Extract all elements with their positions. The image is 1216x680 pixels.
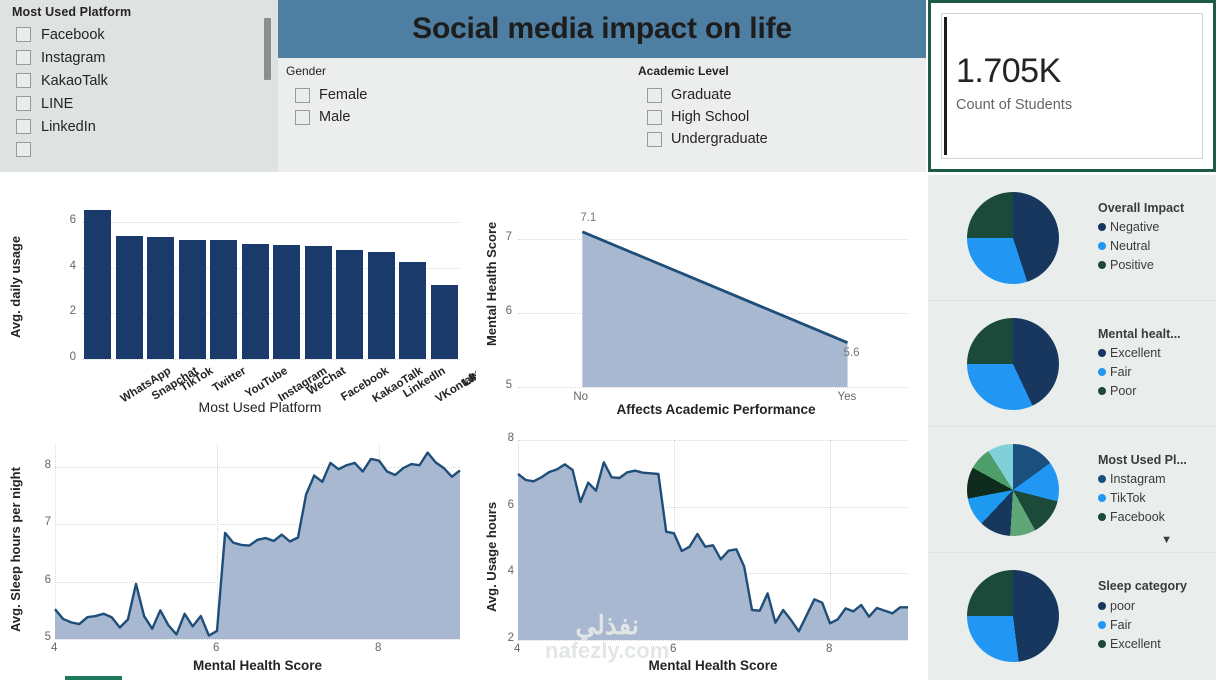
legend-label: Negative	[1110, 220, 1159, 234]
most-used-platform-pie-visual[interactable]: Most Used Pl... Instagram TikTok Faceboo…	[928, 427, 1216, 553]
data-label: 5.6	[844, 347, 860, 359]
kpi-accent-bar	[944, 17, 947, 155]
x-tick-label: 8	[375, 642, 381, 654]
slicer-item-label: LinkedIn	[41, 119, 96, 135]
slicer-item-instagram[interactable]: Instagram	[0, 46, 278, 69]
legend-item[interactable]: Instagram	[1098, 470, 1212, 489]
legend-swatch	[1098, 261, 1106, 269]
slicer-item-label: LINE	[41, 96, 73, 112]
legend-label: Instagram	[1110, 472, 1166, 486]
legend: Sleep category poor Fair Excellent	[1098, 579, 1216, 653]
legend-item[interactable]: Excellent	[1098, 344, 1212, 363]
x-axis-title: Mental Health Score	[518, 658, 908, 673]
gender-slicer[interactable]: Gender Female Male	[278, 58, 600, 172]
x-axis-title: Most Used Platform	[60, 399, 460, 415]
y-tick-label: 0	[52, 351, 76, 363]
slicer-item-high-school[interactable]: High School	[638, 106, 926, 128]
legend-swatch	[1098, 475, 1106, 483]
legend-title: Most Used Pl...	[1098, 453, 1212, 467]
legend-swatch	[1098, 602, 1106, 610]
gridline	[55, 639, 460, 640]
pie-charts-panel: Overall Impact Negative Neutral Positive	[928, 175, 1216, 680]
legend: Overall Impact Negative Neutral Positive	[1098, 201, 1216, 275]
slicer-item-partial[interactable]	[0, 138, 278, 160]
slicer-item-label: Male	[319, 109, 350, 125]
legend-swatch	[1098, 368, 1106, 376]
checkbox-icon[interactable]	[16, 27, 31, 42]
y-tick-label: 2	[492, 632, 514, 644]
x-tick-label: 6	[670, 643, 676, 655]
legend-item[interactable]: Fair	[1098, 615, 1212, 634]
slicer-item-facebook[interactable]: Facebook	[0, 23, 278, 46]
legend-label: Excellent	[1110, 637, 1161, 651]
plot-area: 5678468	[55, 444, 460, 639]
y-tick-label: 4	[492, 565, 514, 577]
area-series	[518, 440, 908, 640]
area-series	[518, 217, 908, 387]
report-canvas: Most Used Platform Facebook Instagram Ka…	[0, 0, 1216, 680]
slicer-item-female[interactable]: Female	[286, 84, 600, 106]
filters-strip: Gender Female Male Academic Level Gradua…	[278, 58, 926, 172]
bar	[147, 237, 174, 359]
overall-impact-pie-visual[interactable]: Overall Impact Negative Neutral Positive	[928, 175, 1216, 301]
bar	[84, 210, 111, 359]
y-tick-label: 8	[492, 432, 514, 444]
checkbox-icon[interactable]	[16, 119, 31, 134]
y-tick-label: 6	[490, 305, 512, 317]
legend-swatch	[1098, 640, 1106, 648]
legend-swatch	[1098, 621, 1106, 629]
y-tick-label: 6	[492, 499, 514, 511]
pie-chart[interactable]	[967, 318, 1059, 410]
area-series	[55, 444, 460, 639]
academic-level-slicer[interactable]: Academic Level Graduate High School Unde…	[600, 58, 926, 172]
bar	[210, 240, 237, 359]
y-tick-label: 7	[490, 231, 512, 243]
most-used-platform-slicer[interactable]: Most Used Platform Facebook Instagram Ka…	[0, 0, 278, 172]
x-tick-label: 4	[51, 642, 57, 654]
legend-item[interactable]: poor	[1098, 596, 1212, 615]
legend-item[interactable]: Poor	[1098, 382, 1212, 401]
x-tick-label: 4	[514, 643, 520, 655]
slicer-item-kakaotalk[interactable]: KakaoTalk	[0, 69, 278, 92]
legend-swatch	[1098, 513, 1106, 521]
bar	[336, 250, 363, 359]
pie-chart[interactable]	[967, 570, 1059, 662]
bar	[431, 285, 458, 359]
slicer-item-label: Undergraduate	[671, 131, 768, 147]
legend-label: Excellent	[1110, 346, 1161, 360]
x-tick-label: 6	[213, 642, 219, 654]
mental-health-pie-visual[interactable]: Mental healt... Excellent Fair Poor	[928, 301, 1216, 427]
y-tick-label: 4	[52, 260, 76, 272]
bar	[273, 245, 300, 359]
pie-chart[interactable]	[967, 192, 1059, 284]
slicer-item-label: High School	[671, 109, 749, 125]
legend-swatch	[1098, 242, 1106, 250]
legend-label: Fair	[1110, 365, 1132, 379]
plot-area: 0246WhatsAppSnapchatTikTokTwitterYouTube…	[82, 199, 460, 359]
plot-area: 2468468	[518, 440, 908, 640]
pie-container	[928, 444, 1098, 536]
gridline	[518, 387, 908, 388]
legend-label: Positive	[1110, 258, 1154, 272]
page-title: Social media impact on life	[412, 12, 792, 46]
y-tick-label: 2	[52, 305, 76, 317]
gridline	[82, 359, 460, 360]
legend: Most Used Pl... Instagram TikTok Faceboo…	[1098, 453, 1216, 527]
slicer-item-label: Female	[319, 87, 367, 103]
legend: Mental healt... Excellent Fair Poor	[1098, 327, 1216, 401]
bar	[179, 240, 206, 359]
platform-usage-bar-chart[interactable]: Avg. daily usage 0246WhatsAppSnapchatTik…	[0, 177, 472, 430]
y-axis-title: Avg. Sleep hours per night	[8, 450, 23, 650]
checkbox-icon[interactable]	[16, 50, 31, 65]
slicer-item-label: Facebook	[41, 27, 105, 43]
slicer-item-undergraduate[interactable]: Undergraduate	[638, 128, 926, 150]
kpi-value: 1.705K	[956, 54, 1202, 88]
legend-item[interactable]: Negative	[1098, 218, 1212, 237]
gridline	[82, 222, 460, 223]
kpi-inner-frame: 1.705K Count of Students	[941, 13, 1203, 159]
y-tick-label: 7	[29, 516, 51, 528]
legend-label: TikTok	[1110, 491, 1146, 505]
legend-swatch	[1098, 223, 1106, 231]
x-tick-label: 8	[826, 643, 832, 655]
legend-item[interactable]: Excellent	[1098, 634, 1212, 653]
legend-label: Fair	[1110, 618, 1132, 632]
usage-vs-mental-health-chart[interactable]: Avg. Usage hours 2468468 Mental Health S…	[476, 432, 926, 680]
legend-label: Neutral	[1110, 239, 1150, 253]
report-header: Social media impact on life	[278, 0, 926, 58]
slicer-item-male[interactable]: Male	[286, 106, 600, 128]
pie-container	[928, 570, 1098, 662]
academic-performance-area-chart[interactable]: Mental Health Score 5677.15.6NoYes Affec…	[476, 177, 926, 430]
slicer-title-gender: Gender	[286, 64, 600, 78]
bar	[305, 246, 332, 359]
legend-item[interactable]: Fair	[1098, 363, 1212, 382]
slicer-item-linkedin[interactable]: LinkedIn	[0, 115, 278, 138]
y-tick-label: 8	[29, 459, 51, 471]
y-axis-title: Avg. daily usage	[8, 207, 23, 367]
legend-title: Sleep category	[1098, 579, 1212, 593]
pie-container	[928, 192, 1098, 284]
bar	[368, 252, 395, 359]
slicer-item-label: Graduate	[671, 87, 731, 103]
sleep-category-pie-visual[interactable]: Sleep category poor Fair Excellent	[928, 553, 1216, 679]
slicer-title-academic-level: Academic Level	[638, 64, 926, 78]
slicer-title-platform: Most Used Platform	[0, 0, 278, 23]
y-tick-label: 5	[490, 379, 512, 391]
legend-title: Mental healt...	[1098, 327, 1212, 341]
x-axis-title: Affects Academic Performance	[516, 402, 916, 417]
data-label: 7.1	[580, 212, 596, 224]
pie-container	[928, 318, 1098, 410]
bar	[399, 262, 426, 359]
pie-chart[interactable]	[967, 444, 1059, 536]
legend-label: poor	[1110, 599, 1135, 613]
legend-item[interactable]: Facebook	[1098, 508, 1212, 527]
legend-item[interactable]: Positive	[1098, 256, 1212, 275]
checkbox-icon[interactable]	[295, 110, 310, 125]
legend-swatch	[1098, 349, 1106, 357]
chevron-down-icon[interactable]: ▼	[1161, 534, 1172, 546]
legend-item[interactable]: TikTok	[1098, 489, 1212, 508]
slicer-scrollbar[interactable]	[264, 18, 271, 80]
x-axis-title: Mental Health Score	[55, 658, 460, 673]
plot-area: 5677.15.6NoYes	[518, 217, 908, 387]
checkbox-icon[interactable]	[16, 142, 31, 157]
count-of-students-card[interactable]: 1.705K Count of Students	[928, 0, 1216, 172]
checkbox-icon[interactable]	[16, 96, 31, 111]
checkbox-icon[interactable]	[16, 73, 31, 88]
legend-swatch	[1098, 387, 1106, 395]
slicer-item-label: KakaoTalk	[41, 73, 108, 89]
legend-title: Overall Impact	[1098, 201, 1212, 215]
sleep-vs-mental-health-chart[interactable]: Avg. Sleep hours per night 5678468 Menta…	[0, 432, 472, 680]
checkbox-icon[interactable]	[295, 88, 310, 103]
y-tick-label: 5	[29, 631, 51, 643]
legend-swatch	[1098, 494, 1106, 502]
gridline	[518, 640, 908, 641]
slicer-item-graduate[interactable]: Graduate	[638, 84, 926, 106]
legend-label: Poor	[1110, 384, 1136, 398]
bar	[242, 244, 269, 359]
page-tab-indicator[interactable]	[65, 676, 122, 680]
slicer-item-label: Instagram	[41, 50, 105, 66]
legend-item[interactable]: Neutral	[1098, 237, 1212, 256]
legend-label: Facebook	[1110, 510, 1165, 524]
checkbox-icon[interactable]	[647, 110, 662, 125]
y-tick-label: 6	[29, 574, 51, 586]
slicer-item-line[interactable]: LINE	[0, 92, 278, 115]
y-tick-label: 6	[52, 214, 76, 226]
kpi-caption: Count of Students	[956, 97, 1202, 113]
checkbox-icon[interactable]	[647, 132, 662, 147]
bar	[116, 236, 143, 359]
checkbox-icon[interactable]	[647, 88, 662, 103]
